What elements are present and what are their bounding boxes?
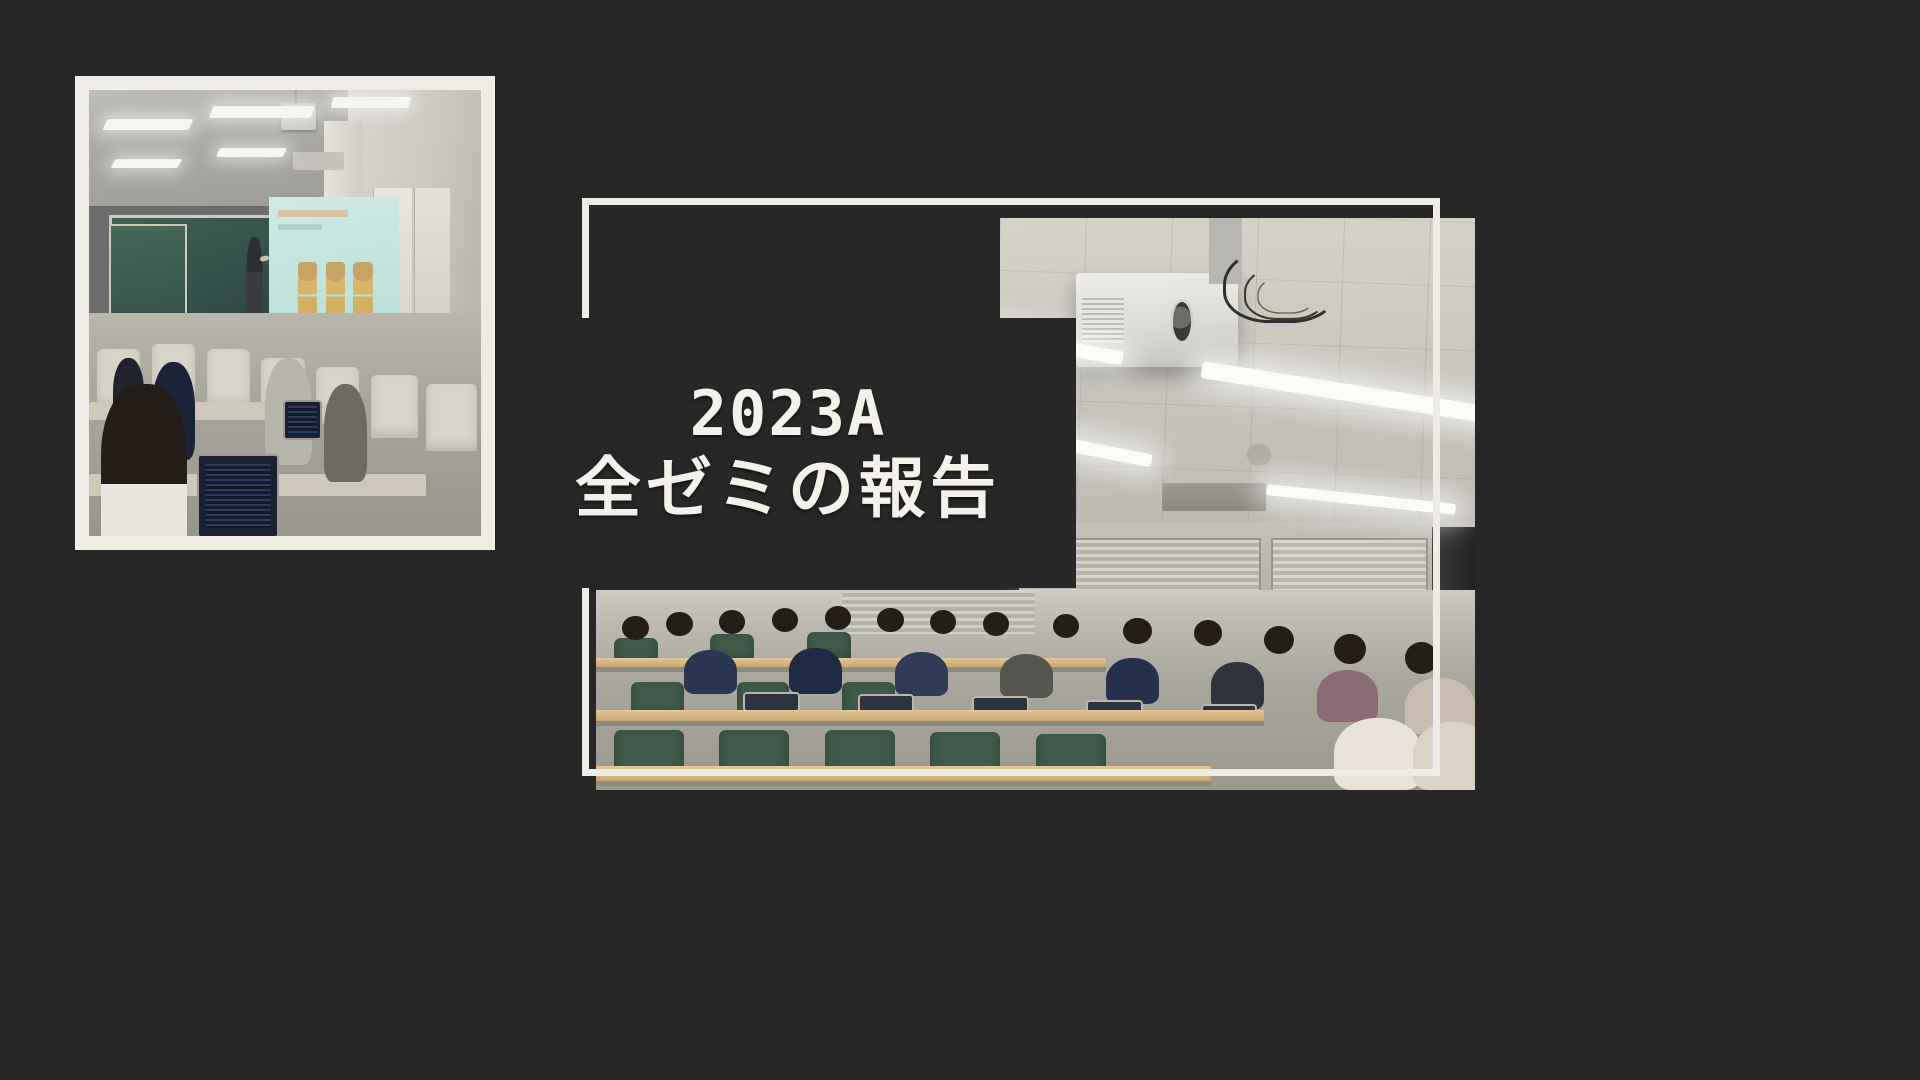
air-conditioner-vent bbox=[1162, 483, 1267, 511]
student-body bbox=[1000, 654, 1053, 698]
student-body bbox=[1106, 658, 1159, 704]
student-head bbox=[825, 606, 851, 630]
photo-lecture-presentation-card bbox=[75, 76, 495, 550]
chair bbox=[207, 349, 250, 407]
student-body bbox=[1334, 718, 1422, 790]
slide-canvas: 2023A 全ゼミの報告 bbox=[0, 0, 1920, 1080]
ceiling-light-bar bbox=[102, 119, 193, 130]
projector-cables bbox=[1223, 246, 1337, 323]
student-head bbox=[1194, 620, 1222, 646]
ceiling-light-bar bbox=[216, 148, 287, 157]
desk-row bbox=[596, 766, 1211, 786]
student-body bbox=[1413, 722, 1475, 790]
student-head bbox=[1334, 634, 1366, 664]
student-head bbox=[666, 612, 692, 636]
laptop bbox=[199, 456, 277, 536]
student-head bbox=[1405, 642, 1438, 674]
photo-students-desks bbox=[596, 590, 1475, 790]
ceiling-light-bar bbox=[331, 97, 412, 108]
laptop bbox=[745, 694, 798, 710]
title-line-subject: 全ゼミの報告 bbox=[575, 452, 1001, 526]
title-panel: 2023A 全ゼミの報告 bbox=[500, 318, 1076, 588]
student-body bbox=[1317, 670, 1379, 722]
title-line-year: 2023A bbox=[690, 381, 887, 446]
desk-row bbox=[596, 710, 1264, 726]
photo-lecture-presentation bbox=[89, 90, 481, 536]
laptop bbox=[285, 402, 320, 438]
student-head bbox=[772, 608, 798, 632]
student-head bbox=[1264, 626, 1294, 654]
chair bbox=[371, 375, 418, 437]
projector-lens-icon bbox=[1170, 299, 1194, 343]
student-body bbox=[1211, 662, 1264, 710]
student-head bbox=[1123, 618, 1151, 644]
student-head bbox=[622, 616, 648, 640]
student-head bbox=[877, 608, 903, 632]
ceiling-light-bar bbox=[208, 106, 314, 118]
ceiling-speaker bbox=[1247, 444, 1271, 466]
student-body bbox=[895, 652, 948, 696]
student-body bbox=[789, 648, 842, 694]
student bbox=[324, 384, 367, 482]
ceiling-light-bar bbox=[110, 159, 182, 168]
foreground-student bbox=[101, 384, 187, 536]
student-body bbox=[684, 650, 737, 694]
student-head bbox=[983, 612, 1009, 636]
chair bbox=[426, 384, 477, 451]
